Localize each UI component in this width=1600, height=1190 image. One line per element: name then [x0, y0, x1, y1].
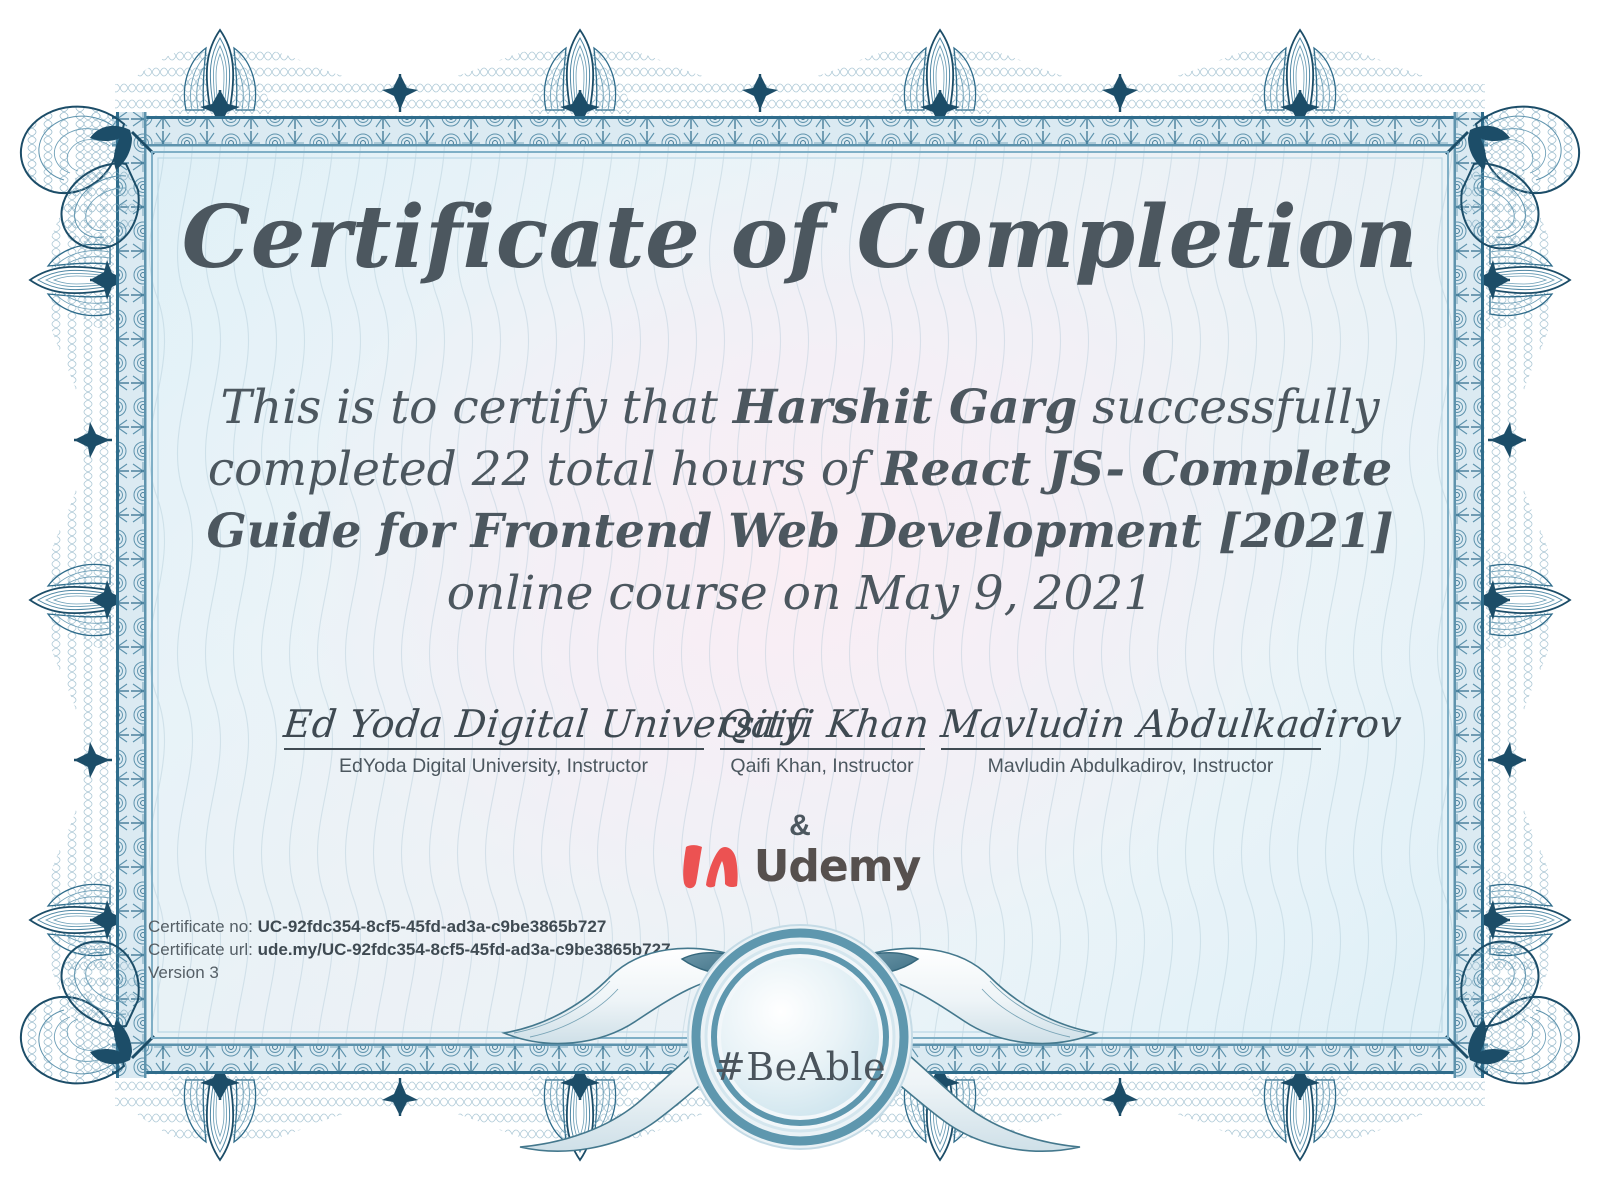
signature-block: Mavludin Abdulkadirov Mavludin Abdulkadi… — [933, 702, 1329, 779]
udemy-mark-icon — [680, 843, 742, 891]
border-corner-top-right — [1446, 107, 1579, 249]
ampersand-separator: & — [137, 809, 1463, 843]
certificate-statement: This is to certify that Harshit Garg suc… — [189, 377, 1411, 625]
signature-label: Qaifi Khan, Instructor — [720, 750, 925, 779]
beable-seal — [688, 925, 912, 1149]
border-corner-top-left — [21, 107, 154, 249]
seal-label: #BeAble — [490, 1045, 1110, 1089]
certificate-number-label: Certificate no: — [148, 917, 253, 936]
border-corner-bottom-right — [1446, 941, 1579, 1083]
signature-label: Mavludin Abdulkadirov, Instructor — [941, 750, 1321, 779]
border-left — [30, 112, 147, 1078]
signature-block: Qaifi Khan Qaifi Khan, Instructor — [712, 702, 933, 779]
signature-script: Ed Yoda Digital University — [281, 702, 706, 746]
udemy-logo: Udemy — [137, 843, 1463, 891]
page-title: Certificate of Completion — [137, 187, 1463, 288]
statement-lead: This is to certify that — [220, 380, 732, 435]
ribbon-and-seal-graphic — [490, 905, 1110, 1175]
udemy-wordmark: Udemy — [754, 845, 921, 889]
certificate: Certificate of Completion This is to cer… — [0, 0, 1600, 1190]
signature-block: Ed Yoda Digital University EdYoda Digita… — [276, 702, 712, 779]
border-top — [112, 30, 1488, 147]
completion-date: May 9, 2021 — [856, 566, 1153, 621]
recipient-name: Harshit Garg — [733, 380, 1077, 435]
seal-with-ribbon: #BeAble — [490, 905, 1110, 1175]
signature-script: Mavludin Abdulkadirov — [938, 702, 1323, 746]
signature-row: Ed Yoda Digital University EdYoda Digita… — [242, 702, 1362, 779]
signature-script: Qaifi Khan — [717, 702, 927, 746]
border-corner-bottom-left — [21, 941, 154, 1083]
border-right — [1454, 112, 1571, 1078]
certificate-url-label: Certificate url: — [148, 940, 253, 959]
signature-label: EdYoda Digital University, Instructor — [284, 750, 704, 779]
statement-tail: online course on — [447, 566, 856, 621]
